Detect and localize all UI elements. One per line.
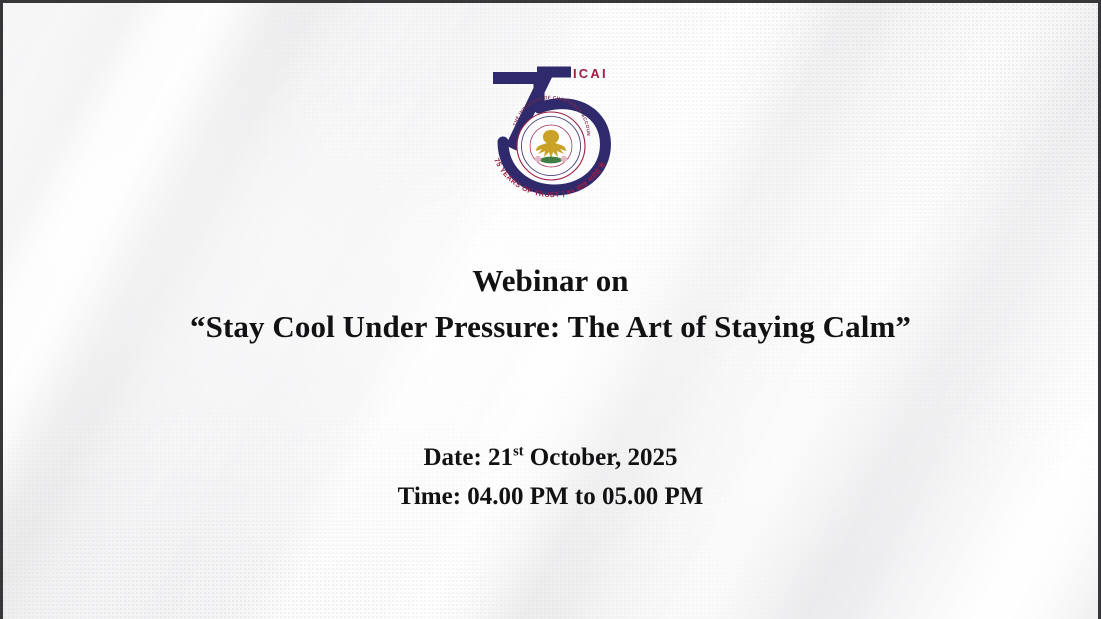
slide-content: ICAI THE INSTITUTE OF CHARTERED ACCOUNTA… <box>0 0 1101 619</box>
event-date-line: Date: 21st October, 2025 <box>398 439 704 478</box>
icai-wordmark: ICAI <box>573 66 608 81</box>
webinar-title: “Stay Cool Under Pressure: The Art of St… <box>190 307 911 347</box>
event-date-ordinal-suffix: st <box>513 444 523 460</box>
event-date-rest: October, 2025 <box>524 444 678 471</box>
event-date-prefix: Date: 21 <box>424 444 514 471</box>
webinar-heading: Webinar on <box>190 262 911 301</box>
title-block: Webinar on “Stay Cool Under Pressure: Th… <box>190 262 911 347</box>
event-details-block: Date: 21st October, 2025 Time: 04.00 PM … <box>398 439 704 517</box>
icai-75-anniversary-logo: ICAI THE INSTITUTE OF CHARTERED ACCOUNTA… <box>467 56 635 208</box>
event-time-line: Time: 04.00 PM to 05.00 PM <box>398 478 704 517</box>
webinar-announcement-slide: ICAI THE INSTITUTE OF CHARTERED ACCOUNTA… <box>0 0 1101 619</box>
